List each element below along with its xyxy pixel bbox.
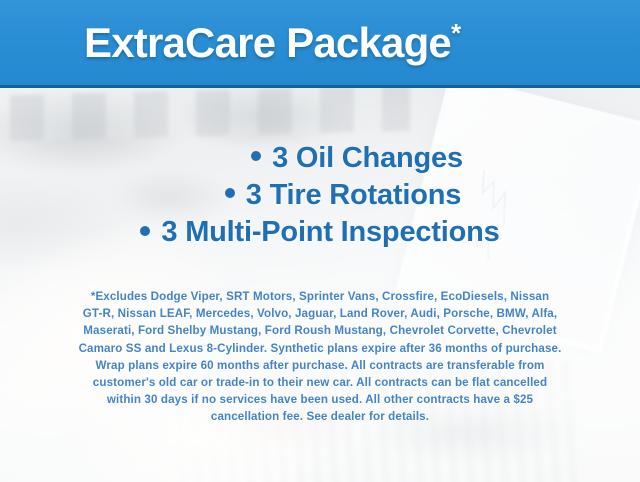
benefits-list: 3 Oil Changes 3 Tire Rotations 3 Multi-P… — [0, 140, 640, 251]
disclaimer-line: *Excludes Dodge Viper, SRT Motors, Sprin… — [22, 288, 618, 305]
disclaimer-line: Camaro SS and Lexus 8-Cylinder. Syntheti… — [22, 340, 618, 357]
list-item-label: 3 Tire Rotations — [246, 179, 461, 211]
disclaimer-line: Wrap plans expire 60 months after purcha… — [22, 357, 618, 374]
list-item-label: 3 Oil Changes — [272, 142, 463, 174]
list-item: 3 Oil Changes — [0, 140, 640, 177]
disclaimer-line: cancellation fee. See dealer for details… — [22, 408, 618, 425]
disclaimer-line: Maserati, Ford Shelby Mustang, Ford Rous… — [22, 322, 618, 339]
page-title-asterisk: * — [451, 18, 460, 48]
page-title: ExtraCare Package* — [84, 19, 460, 67]
list-item: 3 Multi-Point Inspections — [0, 214, 640, 251]
list-item-label: 3 Multi-Point Inspections — [161, 216, 499, 248]
disclaimer-line: GT-R, Nissan LEAF, Mercedes, Volvo, Jagu… — [22, 305, 618, 322]
bullet-dot-icon — [251, 151, 261, 161]
bullet-dot-icon — [225, 188, 235, 198]
disclaimer-line: within 30 days if no services have been … — [22, 391, 618, 408]
page-title-text: ExtraCare Package — [84, 19, 451, 66]
disclaimer-line: customer's old car or trade-in to their … — [22, 374, 618, 391]
list-item: 3 Tire Rotations — [0, 177, 640, 214]
disclaimer-text: *Excludes Dodge Viper, SRT Motors, Sprin… — [22, 288, 618, 426]
bullet-dot-icon — [140, 226, 150, 236]
extracare-package-banner: ExtraCare Package* 3 Oil Changes 3 Tire … — [0, 0, 640, 482]
header-band: ExtraCare Package* — [0, 0, 640, 88]
